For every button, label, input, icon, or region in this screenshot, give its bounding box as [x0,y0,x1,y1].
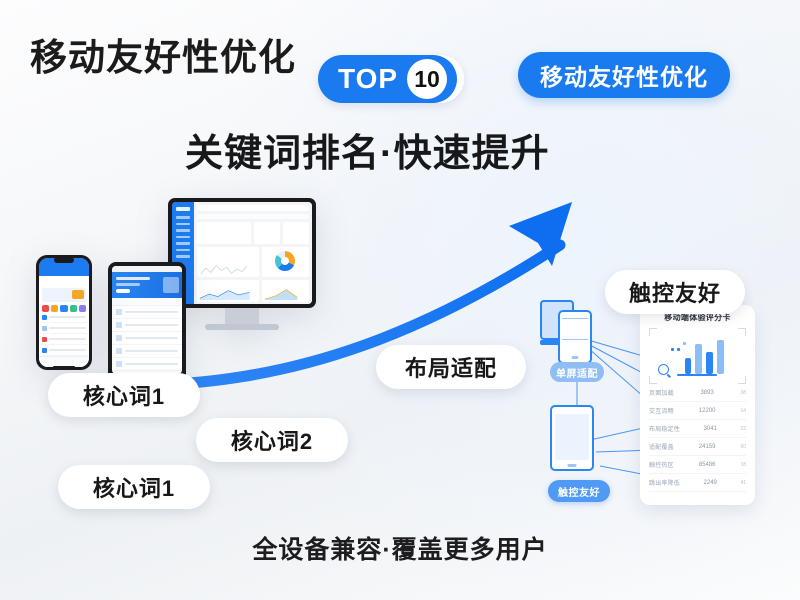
monitor-screen [172,202,312,304]
promo-image [72,290,84,299]
banner-image [163,277,179,293]
phone-mockup [36,255,92,370]
list-line [49,327,86,329]
scorecard-row-delta: 18 [740,462,746,468]
list-line [49,349,86,351]
search-input[interactable] [43,278,85,285]
list-icon [116,335,122,341]
quick-icon-row [39,305,89,312]
list-item [39,312,89,323]
dashboard-card-row [197,247,309,277]
list-icon [42,326,47,331]
sidebar-nav-item [176,242,190,245]
chart-bar [695,344,702,374]
dashboard-filterbar [197,214,309,219]
monitor-bezel [168,198,316,308]
list-item [112,332,182,345]
dashboard-card-row [197,280,309,302]
scorecard-row-delta: 38 [740,390,746,396]
scorecard-row: 交互流畅1220014 [649,402,746,420]
scorecard-row-delta: 60 [740,444,746,450]
dashboard-card [197,247,259,277]
chart-dots [671,342,689,354]
chart-bar [685,358,691,374]
scorecard-row: 跳出率降低224941 [649,474,746,492]
scorecard-row-delta: 41 [740,480,746,486]
list-icon [42,315,47,320]
desktop-monitor-mockup [168,198,316,330]
frame-corner [649,328,657,336]
diagram-connector [576,382,578,406]
phone-screen-area [555,414,589,460]
top-badge-inner: TOP 10 [318,55,457,103]
phone-home-bar [568,464,577,467]
tabbar-item[interactable] [77,357,90,367]
quick-icon[interactable] [51,305,58,312]
scorecard-row-value: 12200 [699,408,716,414]
list-line [125,363,178,366]
dashboard-card [262,280,309,302]
sidebar-nav-item [176,229,190,232]
frame-corner [738,328,746,336]
chart-bar [717,340,724,374]
list-icon [116,322,122,328]
keyword-pill-1[interactable]: 核心词1 [48,373,200,417]
list-item [112,345,182,358]
scorecard-row-delta: 14 [740,408,746,414]
dashboard-card [254,222,280,244]
chart-baseline [677,374,717,376]
quick-icon[interactable] [60,305,67,312]
dashboard-topbar [197,205,309,211]
list-line [125,311,178,314]
scorecard-row-label: 布局稳定性 [649,424,680,433]
dashboard-card [197,280,259,302]
dashboard-content [194,202,312,304]
mobile-experience-scorecard: 移动端体验评分卡 页面加载389338交互流畅1220014布局稳定性30412… [640,305,755,505]
list-icon [116,348,122,354]
quick-icon[interactable] [79,305,86,312]
keyword-pill-3[interactable]: 核心词1 [58,465,210,509]
magnifier-icon [658,364,669,375]
dashboard-logo [176,207,190,211]
sidebar-nav-item [176,255,190,258]
callout-layout-adapt[interactable]: 布局适配 [376,345,526,389]
quick-icon[interactable] [70,305,77,312]
list-line [49,316,86,318]
list-item [39,323,89,334]
promo-banner[interactable] [42,288,86,302]
tablet-screen [112,266,182,374]
scorecard-row-value: 3041 [704,426,717,432]
monitor-stand [225,308,259,324]
banner-line [116,277,150,280]
banner-cta [116,289,130,293]
scorecard-row-label: 适配覆盖 [649,442,674,451]
frame-corner [738,376,746,384]
scorecard-row-label: 触控热区 [649,460,674,469]
list-item [39,345,89,356]
bar-chart-icon [199,263,250,275]
list-item [39,334,89,345]
scorecard-row-label: 页面加载 [649,388,674,397]
callout-touch-friendly[interactable]: 触控友好 [605,270,745,314]
chart-bar [706,352,713,374]
header-tag-pill: 移动友好性优化 [518,52,730,98]
page-title: 移动友好性优化 [30,27,296,81]
list-icon [42,337,47,342]
scorecard-row-label: 交互流畅 [649,406,674,415]
line-chart-icon [199,288,250,300]
list-item [112,358,182,371]
footer-tagline: 全设备兼容·覆盖更多用户 [0,530,800,566]
scorecard-row: 页面加载389338 [649,384,746,402]
diagram-pill-top: 单屏适配 [550,362,604,382]
scorecard-row-value: 2249 [704,480,717,486]
top-badge-word: TOP [338,63,398,95]
list-line [125,337,178,340]
scorecard-row: 布局稳定性304122 [649,420,746,438]
tabbar-item[interactable] [39,357,52,367]
dashboard-card [197,222,251,244]
banner-line [116,283,140,286]
list-item [112,306,182,319]
list-icon [42,348,47,353]
dashboard-card-row [197,222,309,244]
phone-home-indicator [53,366,75,368]
scorecard-chart [649,328,746,384]
top-rank-badge: TOP 10 [318,55,464,103]
keyword-pill-2[interactable]: 核心词2 [196,418,348,462]
poster-canvas: 移动友好性优化 TOP 10 移动友好性优化 关键词排名·快速提升 [0,0,800,600]
sidebar-nav-item [176,249,190,252]
sidebar-nav-item [176,223,190,226]
small-phone-icon [558,310,592,364]
large-phone-icon [550,405,594,471]
sidebar-nav-item [176,236,190,239]
monitor-foot [205,324,279,330]
top-badge-number: 10 [407,59,447,99]
area-chart-icon [264,288,298,300]
phone-screen-lines [562,318,588,340]
scorecard-row-value: 85486 [699,462,716,468]
scorecard-row-value: 3893 [700,390,713,396]
phone-home-bar [572,356,579,359]
diagram-pill-bottom: 触控友好 [548,480,610,502]
scorecard-row-delta: 22 [740,426,746,432]
list-item [112,319,182,332]
phone-notch [54,257,74,263]
scorecard-row: 触控热区8548618 [649,456,746,474]
quick-icon[interactable] [42,305,49,312]
donut-chart-icon [275,251,295,271]
sidebar-nav-item [176,216,190,219]
scorecard-row-label: 跳出率降低 [649,478,680,487]
tablet-banner [112,272,182,298]
tablet-mockup [108,262,186,382]
list-line [125,324,178,327]
scorecard-rows: 页面加载389338交互流畅1220014布局稳定性304122适配覆盖2415… [649,384,746,492]
scorecard-row: 适配覆盖2415960 [649,438,746,456]
phone-screen [39,258,89,367]
tablet-tabbar [112,298,182,306]
list-icon [116,361,122,367]
list-line [125,350,178,353]
list-icon [116,309,122,315]
dashboard-card [283,222,309,244]
list-line [49,338,86,340]
scorecard-row-value: 24159 [699,444,716,450]
dashboard-donut-card [262,247,309,277]
frame-corner [649,376,657,384]
